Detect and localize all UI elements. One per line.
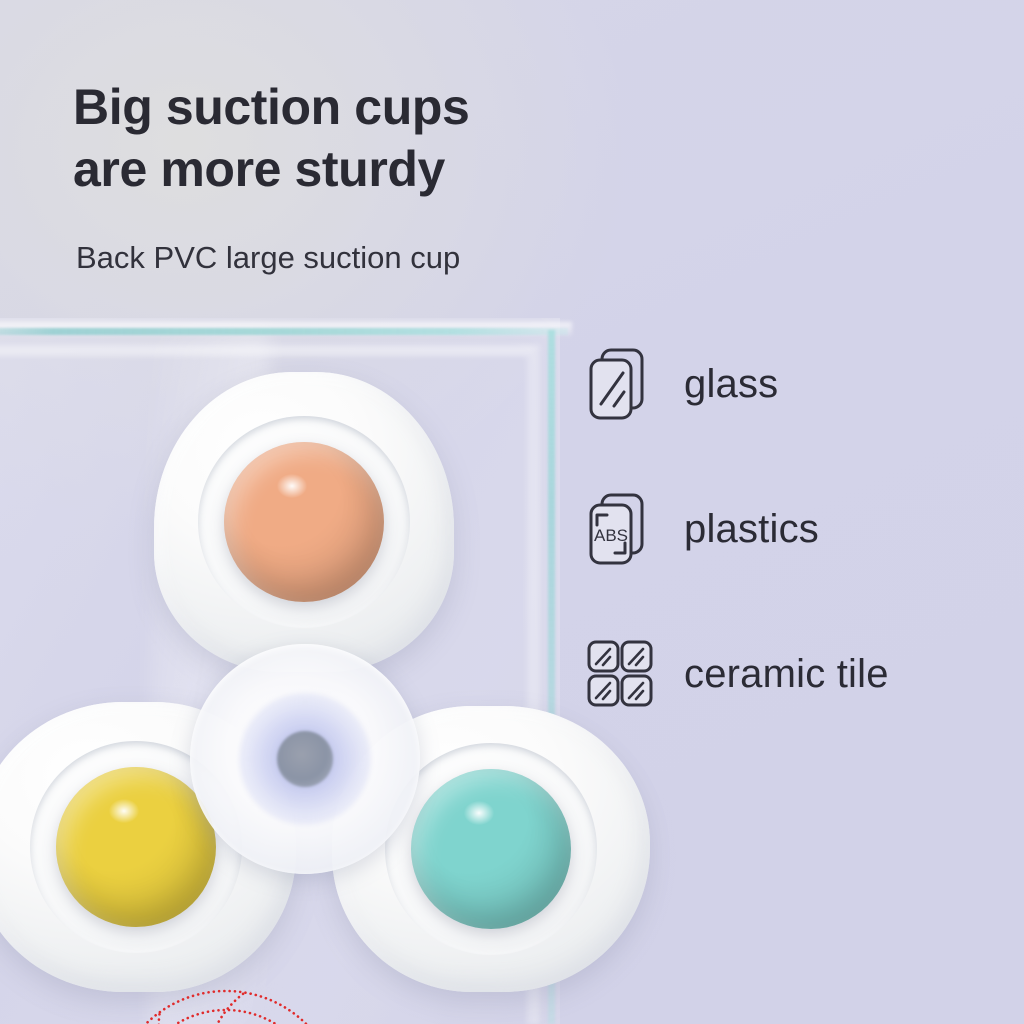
tile-grid-icon: [586, 639, 660, 711]
abs-icon-text: ABS: [594, 526, 628, 545]
hub-core: [277, 731, 333, 787]
subheading: Back PVC large suction cup: [76, 239, 460, 276]
suction-cup-spinner-toy: [0, 372, 658, 1024]
headline-line-2: are more sturdy: [73, 138, 693, 200]
glass-top-edge: [0, 328, 568, 335]
suction-cup-diagram: [108, 987, 344, 1024]
yellow-ball: [56, 767, 216, 927]
headline-line-1: Big suction cups: [73, 79, 469, 135]
feature-item-plastics: ABS plastics: [586, 457, 1016, 602]
abs-sheet-icon: ABS: [586, 491, 660, 569]
feature-item-glass: glass: [586, 312, 1016, 457]
headline: Big suction cups are more sturdy: [73, 76, 693, 200]
feature-label-ceramic-tile: ceramic tile: [684, 652, 889, 697]
teal-ball: [411, 769, 571, 929]
material-compatibility-list: glass ABS plastics: [586, 312, 1016, 747]
product-feature-poster: Big suction cups are more sturdy Back PV…: [0, 0, 1024, 1024]
spinner-lobe-top: [154, 372, 454, 672]
glass-panes-icon: [586, 346, 660, 424]
spinner-hub: [190, 644, 420, 874]
feature-label-plastics: plastics: [684, 507, 819, 552]
feature-item-ceramic-tile: ceramic tile: [586, 602, 1016, 747]
peach-ball: [224, 442, 384, 602]
feature-label-glass: glass: [684, 362, 778, 407]
